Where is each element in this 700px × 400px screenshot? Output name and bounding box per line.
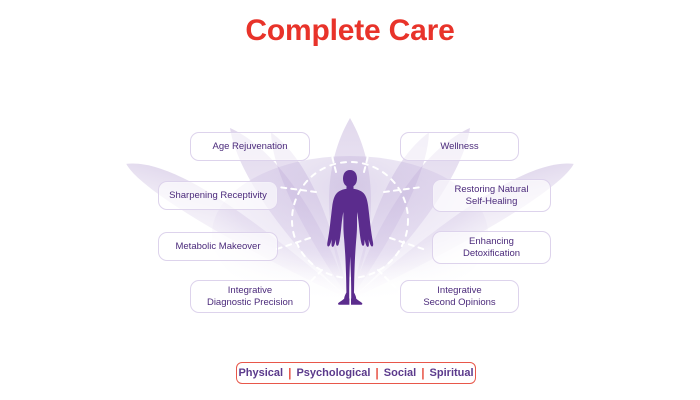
label-line-2: Self-Healing: [466, 196, 518, 207]
label-text-block: Integrative Diagnostic Precision: [207, 285, 293, 308]
label-text: Age Rejuvenation: [213, 141, 288, 153]
label-text: Metabolic Makeover: [175, 241, 260, 253]
dimension-spiritual[interactable]: Spiritual: [425, 367, 479, 379]
label-line-1: Enhancing: [469, 236, 514, 247]
label-line-1: Restoring Natural: [455, 184, 529, 195]
label-enhancing-detoxification[interactable]: Enhancing Detoxification: [432, 231, 551, 264]
label-text-block: Integrative Second Opinions: [423, 285, 495, 308]
label-metabolic-makeover[interactable]: Metabolic Makeover: [158, 232, 278, 261]
label-line-2: Diagnostic Precision: [207, 297, 293, 308]
label-text-block: Enhancing Detoxification: [463, 236, 520, 259]
label-text: Wellness: [440, 141, 478, 153]
label-text: Sharpening Receptivity: [169, 190, 267, 202]
label-line-1: Integrative: [437, 285, 481, 296]
label-restoring-natural-self-healing[interactable]: Restoring Natural Self-Healing: [432, 179, 551, 212]
label-sharpening-receptivity[interactable]: Sharpening Receptivity: [158, 181, 278, 210]
page-title: Complete Care: [0, 14, 700, 47]
dimension-social[interactable]: Social: [379, 367, 421, 379]
dimensions-bar: Physical | Psychological | Social | Spir…: [236, 362, 476, 384]
label-line-2: Detoxification: [463, 248, 520, 259]
label-age-rejuvenation[interactable]: Age Rejuvenation: [190, 132, 310, 161]
label-integrative-second-opinions[interactable]: Integrative Second Opinions: [400, 280, 519, 313]
label-line-1: Integrative: [228, 285, 272, 296]
label-integrative-diagnostic-precision[interactable]: Integrative Diagnostic Precision: [190, 280, 310, 313]
dimension-psychological[interactable]: Psychological: [291, 367, 375, 379]
complete-care-infographic: Age Rejuvenation Sharpening Receptivity …: [0, 0, 700, 400]
human-body-silhouette-icon: [324, 168, 376, 308]
dimension-physical[interactable]: Physical: [233, 367, 288, 379]
label-text-block: Restoring Natural Self-Healing: [455, 184, 529, 207]
label-wellness[interactable]: Wellness: [400, 132, 519, 161]
label-line-2: Second Opinions: [423, 297, 495, 308]
